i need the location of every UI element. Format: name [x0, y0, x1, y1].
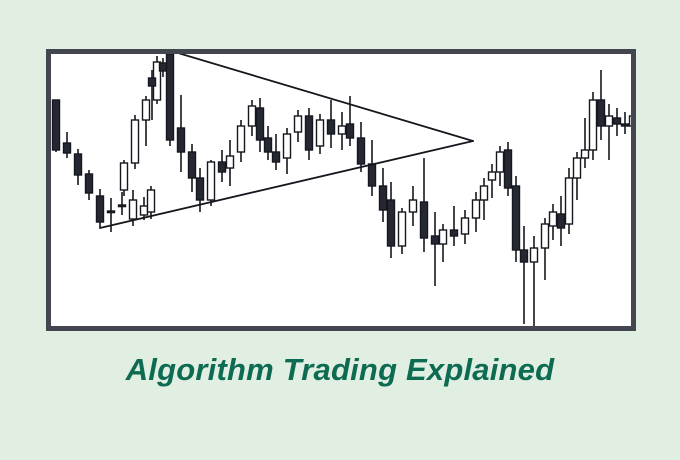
candle-body-bearish [108, 211, 115, 213]
candle-body-bullish [148, 190, 155, 212]
candle [306, 108, 313, 160]
candle-body-bearish [257, 108, 264, 140]
candle-body-bullish [410, 200, 417, 212]
candle-body-bearish [178, 128, 185, 152]
candle [481, 178, 488, 220]
candle [148, 186, 155, 219]
candle [606, 104, 613, 160]
candle [590, 92, 597, 160]
candle-body-bullish [582, 150, 589, 158]
candle [53, 100, 60, 152]
candle-body-bullish [542, 224, 549, 248]
candle-body-bearish [432, 236, 439, 244]
candle-body-bullish [130, 200, 137, 219]
candle-body-bearish [189, 152, 196, 178]
candle-body-bearish [75, 154, 82, 175]
candle-body-bullish [574, 158, 581, 178]
candle-body-bearish [306, 116, 313, 150]
candle [189, 144, 196, 192]
candle-body-bearish [119, 205, 126, 207]
candle-body-bearish [97, 196, 104, 222]
candle [132, 115, 139, 169]
candle [358, 122, 365, 172]
candle-body-bearish [380, 186, 387, 210]
candle-body-bearish [86, 174, 93, 193]
candle [208, 160, 215, 206]
candle-body-bullish [473, 200, 480, 218]
candle [399, 208, 406, 254]
candle-body-bearish [369, 164, 376, 186]
candle [97, 189, 104, 228]
candle [513, 176, 520, 262]
candles-layer [53, 54, 632, 326]
candle [566, 168, 573, 234]
candle [257, 98, 264, 152]
candle-body-bearish [614, 118, 621, 124]
candle-body-bearish [64, 143, 71, 153]
candle [489, 164, 496, 198]
candle-body-bearish [197, 178, 204, 200]
candle-body-bearish [358, 138, 365, 164]
candle-body-bullish [399, 212, 406, 246]
candle-body-bullish [550, 212, 557, 226]
candle [582, 118, 589, 168]
candle [598, 70, 605, 140]
candle [265, 126, 272, 160]
candle [238, 120, 245, 162]
candle [451, 206, 458, 246]
candle [369, 140, 376, 196]
candle-body-bullish [295, 116, 302, 132]
candle [143, 96, 150, 146]
candle-body-bearish [149, 78, 156, 86]
candle-body-bearish [160, 63, 167, 71]
candle-body-bullish [339, 126, 346, 134]
candle-body-bullish [143, 100, 150, 120]
candle [86, 170, 93, 200]
candle [542, 218, 549, 280]
candle-body-bearish [219, 162, 226, 172]
candle-body-bullish [284, 134, 291, 158]
candle [295, 110, 302, 142]
candlestick-chart [51, 54, 631, 326]
candle-body-bearish [273, 152, 280, 162]
candle-body-bullish [489, 172, 496, 180]
candle [410, 186, 417, 226]
candle [339, 112, 346, 150]
candle-body-bullish [132, 120, 139, 163]
candle [473, 192, 480, 232]
candle [630, 100, 632, 138]
candle [64, 132, 71, 158]
candle [317, 114, 324, 154]
candle [178, 95, 185, 172]
candle-body-bearish [53, 100, 60, 150]
candle-body-bullish [630, 116, 632, 126]
candle-body-bearish [265, 138, 272, 152]
candle-body-bearish [328, 120, 335, 134]
candle [121, 160, 128, 196]
candle-body-bearish [622, 124, 629, 126]
candle [550, 204, 557, 240]
candle [505, 142, 512, 196]
candle [614, 108, 621, 136]
candle-body-bearish [513, 186, 520, 250]
candle-body-bullish [121, 163, 128, 190]
candle-body-bullish [497, 152, 504, 172]
candle-body-bullish [227, 156, 234, 168]
candle [574, 152, 581, 200]
candle [558, 196, 565, 246]
infographic-page: Algorithm Trading Explained [0, 0, 680, 460]
candle-body-bullish [317, 120, 324, 146]
candle [531, 236, 538, 326]
candle [622, 112, 629, 134]
candle-body-bullish [208, 162, 215, 200]
candle [75, 149, 82, 185]
candle-body-bullish [249, 106, 256, 126]
candle [388, 182, 395, 258]
candle-body-bullish [440, 230, 447, 244]
candle-body-bullish [481, 186, 488, 200]
candle [219, 150, 226, 182]
candle [432, 212, 439, 286]
candle-body-bearish [558, 214, 565, 228]
candle [328, 100, 335, 148]
candle-body-bearish [347, 124, 354, 138]
candle [249, 100, 256, 136]
candle [521, 226, 528, 324]
candle [497, 146, 504, 186]
candle [380, 168, 387, 222]
candle-body-bearish [505, 150, 512, 188]
candle-body-bullish [566, 178, 573, 224]
candle-body-bearish [421, 202, 428, 238]
candle-body-bearish [521, 250, 528, 262]
candle [284, 128, 291, 174]
candle-body-bearish [451, 230, 458, 236]
candle [167, 54, 174, 146]
candle-body-bearish [167, 54, 174, 140]
candle-body-bullish [238, 126, 245, 152]
candle-body-bearish [388, 200, 395, 246]
candlestick-chart-frame [46, 49, 636, 331]
candle [440, 224, 447, 262]
candle-body-bearish [598, 100, 605, 126]
candle-body-bullish [531, 248, 538, 262]
candle-body-bullish [462, 218, 469, 234]
candle [273, 134, 280, 170]
candle [462, 210, 469, 244]
candle-body-bullish [590, 100, 597, 150]
candle-body-bullish [141, 206, 148, 215]
page-title: Algorithm Trading Explained [0, 352, 680, 388]
candle [227, 140, 234, 186]
candle-body-bullish [606, 116, 613, 126]
candle [421, 158, 428, 252]
